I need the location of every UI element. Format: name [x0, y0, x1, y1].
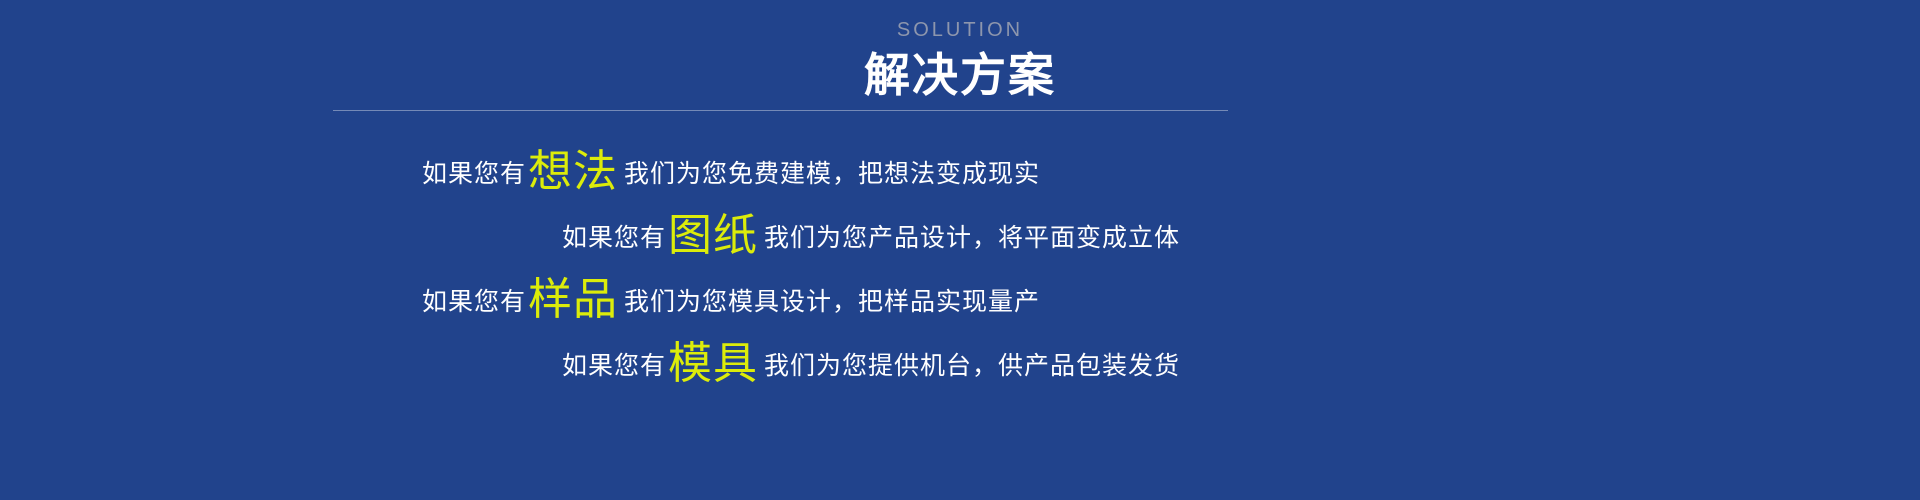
row-keyword: 样品 [526, 278, 624, 322]
row-prefix: 如果您有 [562, 346, 666, 382]
row-prefix: 如果您有 [562, 218, 666, 254]
solution-list: 如果您有 想法 我们为您免费建模，把想法变成现实 如果您有 图纸 我们为您产品设… [0, 140, 1560, 396]
row-suffix: 我们为您模具设计，把样品实现量产 [624, 282, 1040, 318]
row-suffix: 我们为您提供机台，供产品包装发货 [764, 346, 1180, 382]
row-suffix: 我们为您产品设计，将平面变成立体 [764, 218, 1180, 254]
row-keyword: 图纸 [666, 214, 764, 258]
header-divider [333, 110, 1228, 111]
row-keyword: 模具 [666, 342, 764, 386]
page-title: 解决方案 [0, 46, 1920, 104]
list-item: 如果您有 模具 我们为您提供机台，供产品包装发货 [0, 332, 1560, 396]
list-item: 如果您有 样品 我们为您模具设计，把样品实现量产 [0, 268, 1560, 332]
row-keyword: 想法 [526, 150, 624, 194]
section-eyebrow: SOLUTION [0, 16, 1920, 44]
list-item: 如果您有 图纸 我们为您产品设计，将平面变成立体 [0, 204, 1560, 268]
row-prefix: 如果您有 [422, 154, 526, 190]
row-prefix: 如果您有 [422, 282, 526, 318]
list-item: 如果您有 想法 我们为您免费建模，把想法变成现实 [0, 140, 1560, 204]
row-suffix: 我们为您免费建模，把想法变成现实 [624, 154, 1040, 190]
section-header: SOLUTION 解决方案 [0, 0, 1920, 104]
solution-banner: SOLUTION 解决方案 如果您有 想法 我们为您免费建模，把想法变成现实 如… [0, 0, 1920, 500]
